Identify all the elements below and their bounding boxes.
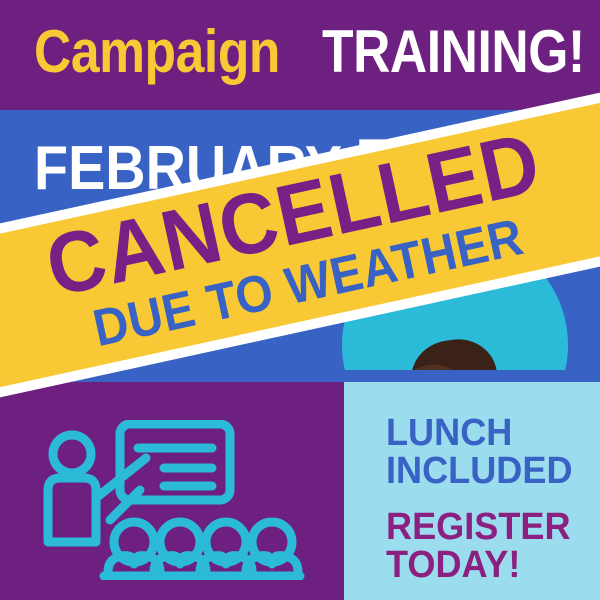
info-line-today: TODAY! [386,546,573,584]
event-poster: CampaignTRAINING! FEBRUARY 7 10:30AM- 1:… [0,0,600,600]
header-word-campaign: Campaign [34,22,280,82]
info-text-block: LUNCH INCLUDED REGISTER TODAY! [386,414,573,584]
info-line-included: INCLUDED [386,452,573,490]
classroom-presentation-icon [34,420,314,580]
info-line-lunch: LUNCH [386,414,573,452]
info-line-register: REGISTER [386,508,573,546]
header-word-training: TRAINING! [322,22,585,82]
header-title: CampaignTRAINING! [34,22,600,82]
poster-header: CampaignTRAINING! [0,0,600,110]
